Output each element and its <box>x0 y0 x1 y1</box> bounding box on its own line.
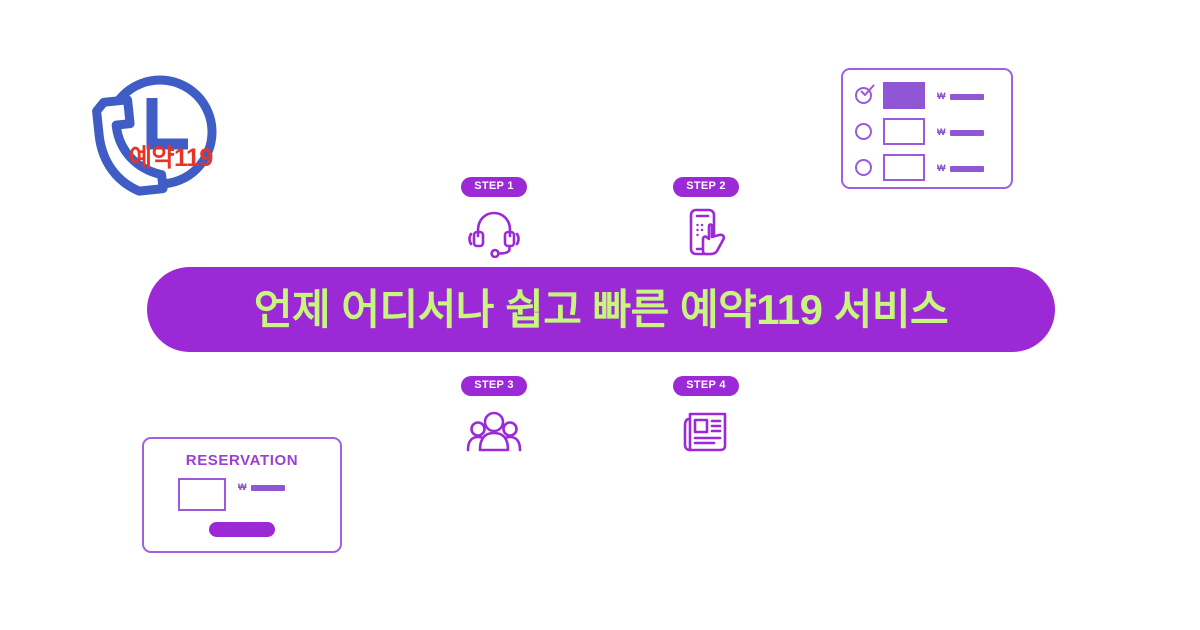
price-bar <box>251 485 285 491</box>
reservation-card-body: ₩ <box>178 478 314 511</box>
price-bar <box>950 94 984 100</box>
selection-list-card[interactable]: ₩ ₩ ₩ <box>841 68 1013 189</box>
price-bar <box>950 166 984 172</box>
mobile-tap-icon <box>678 206 734 258</box>
headline-banner: 언제 어디서나 쉽고 빠른 예약119 서비스 <box>147 267 1055 352</box>
step-4[interactable]: STEP 4 <box>646 375 766 457</box>
headset-icon <box>466 206 522 258</box>
currency-symbol: ₩ <box>937 128 946 137</box>
item-thumbnail <box>883 154 925 181</box>
reservation-submit-button[interactable] <box>209 522 275 537</box>
item-price: ₩ <box>937 92 999 101</box>
item-price: ₩ <box>937 128 999 137</box>
list-item[interactable]: ₩ <box>855 152 999 183</box>
logo-wordmark: 예약119 <box>129 146 213 171</box>
reservation-text-lines: ₩ <box>238 478 314 492</box>
brand-logo: 예약119 <box>72 70 232 210</box>
currency-symbol: ₩ <box>937 92 946 101</box>
step-3[interactable]: STEP 3 <box>434 375 554 457</box>
reservation-price: ₩ <box>238 483 314 492</box>
poster-canvas: 예약119 STEP 1 STEP 2 <box>0 0 1200 630</box>
item-text-lines: ₩ <box>937 126 999 137</box>
item-thumbnail <box>883 118 925 145</box>
people-group-icon <box>466 405 522 457</box>
price-bar <box>950 130 984 136</box>
item-thumbnail <box>883 82 925 109</box>
item-text-lines: ₩ <box>937 90 999 101</box>
currency-symbol: ₩ <box>937 164 946 173</box>
item-price: ₩ <box>937 164 999 173</box>
reservation-thumbnail <box>178 478 226 511</box>
step-1-badge: STEP 1 <box>461 177 527 197</box>
check-circle-icon[interactable] <box>855 87 872 104</box>
currency-symbol: ₩ <box>238 483 247 492</box>
item-text-lines: ₩ <box>937 162 999 173</box>
reservation-card-title: RESERVATION <box>144 452 340 469</box>
newspaper-icon <box>678 405 734 457</box>
phone-clock-logo-icon <box>72 70 232 210</box>
step-2[interactable]: STEP 2 <box>646 176 766 258</box>
step-4-badge: STEP 4 <box>673 376 739 396</box>
list-item[interactable]: ₩ <box>855 116 999 147</box>
radio-circle-icon[interactable] <box>855 123 872 140</box>
radio-circle-icon[interactable] <box>855 159 872 176</box>
step-3-badge: STEP 3 <box>461 376 527 396</box>
reservation-card[interactable]: RESERVATION ₩ <box>142 437 342 553</box>
step-1[interactable]: STEP 1 <box>434 176 554 258</box>
headline-text: 언제 어디서나 쉽고 빠른 예약119 서비스 <box>254 289 948 331</box>
list-item[interactable]: ₩ <box>855 80 999 111</box>
step-2-badge: STEP 2 <box>673 177 739 197</box>
